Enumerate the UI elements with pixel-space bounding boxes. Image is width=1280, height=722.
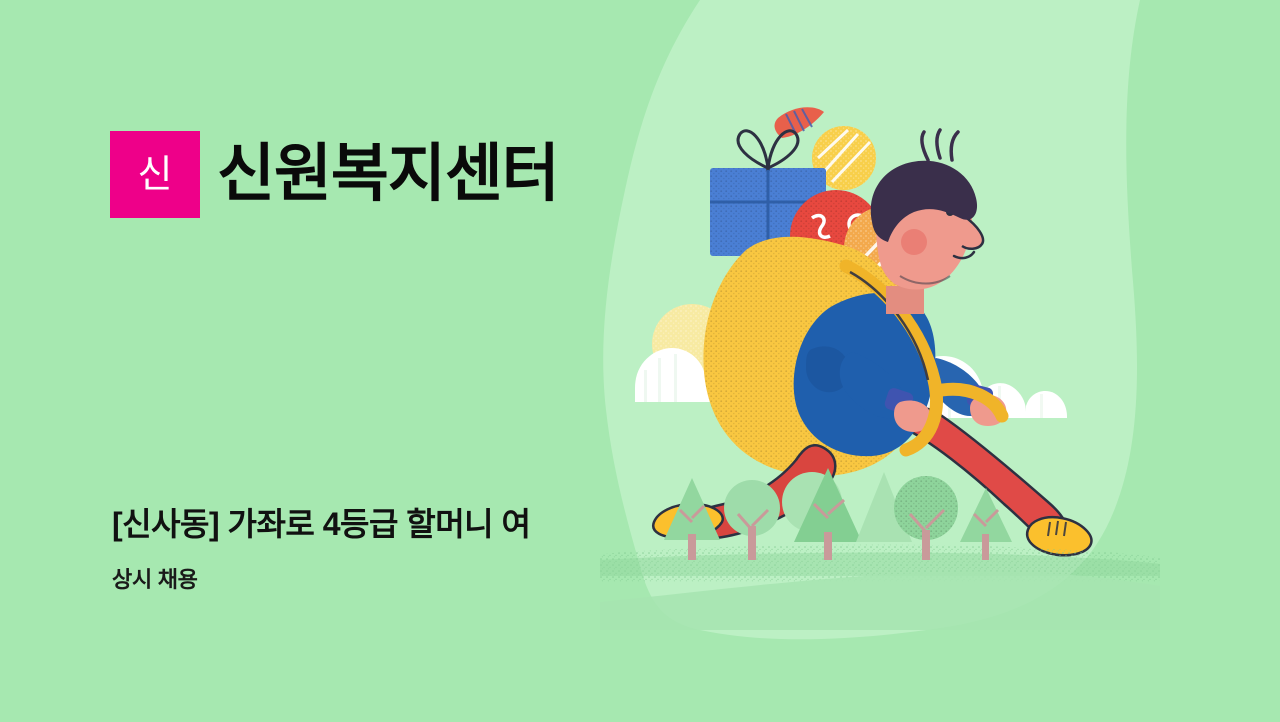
company-initial-badge: 신 <box>110 131 200 218</box>
company-name: 신원복지센터 <box>217 143 559 206</box>
job-title: [신사동] 가좌로 4등급 할머니 여 <box>112 504 632 544</box>
job-posting-banner: 신 신원복지센터 [신사동] 가좌로 4등급 할머니 여 상시 채용 <box>0 0 1280 722</box>
job-info-block: [신사동] 가좌로 4등급 할머니 여 상시 채용 <box>112 504 632 593</box>
running-man-with-gift-sack-illustration <box>600 90 1160 630</box>
employment-type-label: 상시 채용 <box>112 567 632 593</box>
brand-header: 신 신원복지센터 <box>110 131 559 218</box>
